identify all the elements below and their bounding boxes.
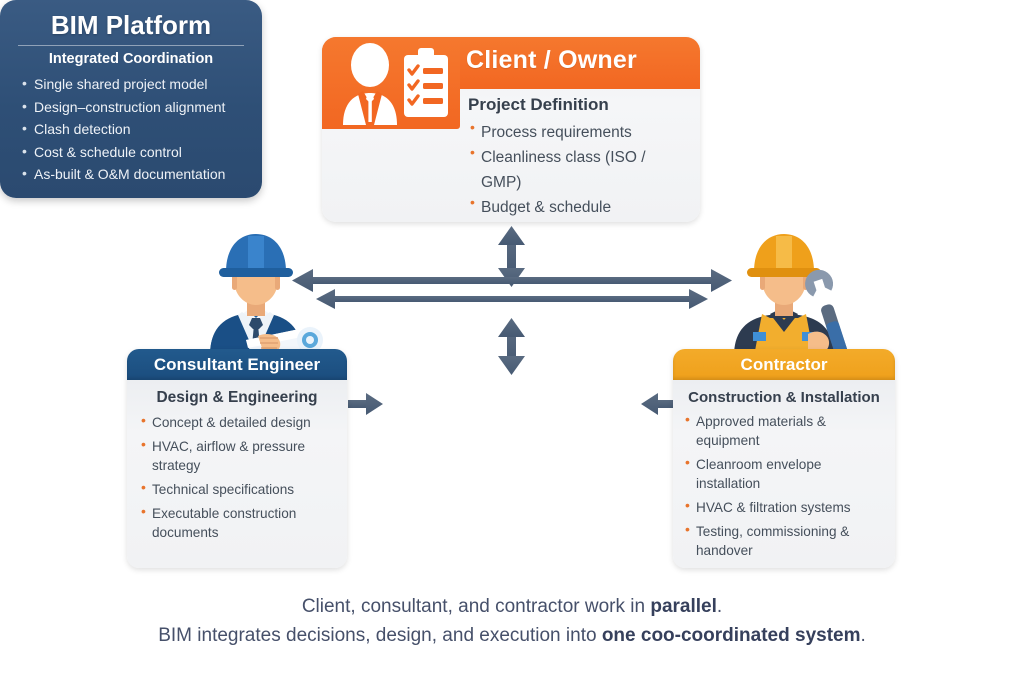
list-item: Budget & schedule	[468, 195, 690, 220]
list-item: Single shared project model	[22, 73, 262, 96]
client-card-body: Project Definition Process requirements …	[468, 95, 690, 222]
arrow-consultant-to-bim	[348, 393, 383, 415]
consultant-card-body: Design & Engineering Concept & detailed …	[127, 380, 347, 568]
caption-line1-part1: Client, consultant, and contractor work …	[302, 596, 651, 617]
contractor-card-header: Contractor	[673, 349, 895, 380]
list-item: As-built & O&M documentation	[22, 163, 262, 186]
list-item: HVAC, airflow & pressure strategy	[139, 437, 335, 475]
list-item: Cleanliness class (ISO / GMP)	[468, 145, 690, 195]
client-owner-card: Client / Owner Project Definition Proces…	[322, 37, 700, 222]
arrow-contractor-to-bim	[641, 393, 677, 415]
list-item: Cost & schedule control	[22, 141, 262, 164]
arrow-client-to-bim-vertical	[498, 226, 525, 287]
caption-line2-part1: BIM integrates decisions, design, and ex…	[158, 625, 602, 646]
client-bullet-list: Process requirements Cleanliness class (…	[468, 120, 690, 222]
bim-divider	[18, 45, 244, 46]
caption-line1-emphasis: parallel	[650, 596, 717, 617]
caption-line-2: BIM integrates decisions, design, and ex…	[0, 621, 1024, 650]
caption-line1-part3: .	[717, 596, 722, 617]
contractor-card-body: Construction & Installation Approved mat…	[673, 380, 895, 568]
bim-platform-title: BIM Platform	[0, 0, 262, 41]
caption-line2-part3: .	[861, 625, 866, 646]
list-item: Concept & detailed design	[139, 413, 335, 432]
list-item: Cleanroom envelope installation	[683, 455, 885, 493]
consultant-card-header: Consultant Engineer	[127, 349, 347, 380]
contractor-card: Contractor Construction & Installation A…	[673, 349, 895, 568]
bim-subtitle: Integrated Coordination	[0, 51, 262, 67]
client-subtitle: Project Definition	[468, 95, 690, 115]
contractor-card-title: Contractor	[741, 355, 828, 375]
caption-line-1: Client, consultant, and contractor work …	[0, 592, 1024, 621]
consultant-bullet-list: Concept & detailed design HVAC, airflow …	[139, 413, 335, 542]
list-item: Executable construction documents	[139, 504, 335, 542]
list-item: Testing, commissioning & handover	[683, 522, 885, 560]
arrow-consultant-to-contractor-lower	[316, 289, 708, 309]
caption: Client, consultant, and contractor work …	[0, 592, 1024, 650]
list-item: Design–construction alignment	[22, 96, 262, 119]
consultant-card-title: Consultant Engineer	[154, 355, 320, 375]
list-item: Future scalability	[468, 220, 690, 222]
diagram-canvas: Client / Owner Project Definition Proces…	[0, 0, 1024, 683]
bim-bullet-list: Single shared project model Design–const…	[0, 73, 262, 186]
list-item: HVAC & filtration systems	[683, 498, 885, 517]
list-item: Approved materials & equipment	[683, 412, 885, 450]
arrow-consultant-to-contractor-upper	[292, 269, 732, 292]
client-card-title: Client / Owner	[466, 46, 637, 75]
client-icon-panel	[322, 37, 460, 129]
contractor-wrench-illustration	[712, 222, 860, 356]
contractor-subtitle: Construction & Installation	[683, 389, 885, 406]
consultant-subtitle: Design & Engineering	[139, 389, 335, 407]
arrow-bim-to-hub-vertical	[498, 318, 525, 375]
caption-line2-emphasis: one coo-coordinated system	[602, 625, 861, 646]
list-item: Clash detection	[22, 118, 262, 141]
client-owner-clipboard-icon	[330, 43, 454, 125]
bim-platform-card: BIM Platform Integrated Coordination Sin…	[0, 0, 262, 198]
list-item: Technical specifications	[139, 480, 335, 499]
contractor-bullet-list: Approved materials & equipment Cleanroom…	[683, 412, 885, 560]
list-item: Process requirements	[468, 120, 690, 145]
engineer-blueprint-illustration	[186, 222, 326, 356]
consultant-engineer-card: Consultant Engineer Design & Engineering…	[127, 349, 347, 568]
